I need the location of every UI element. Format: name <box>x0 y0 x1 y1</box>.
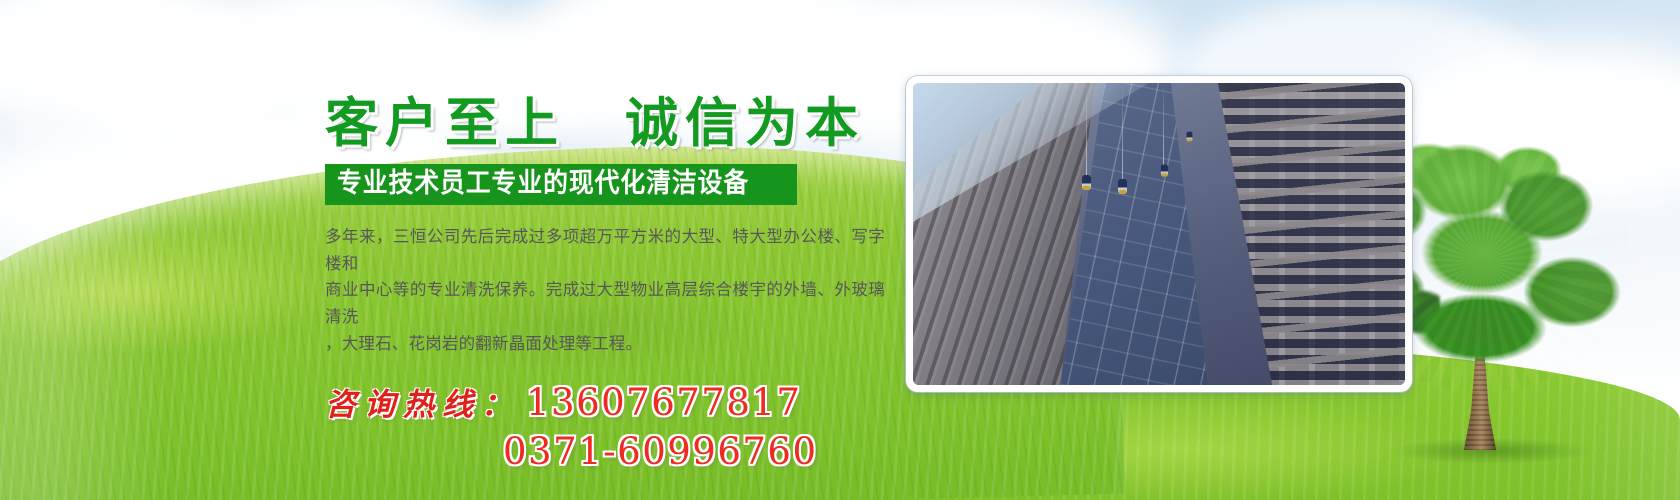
hotline-row: 咨询热线： 13607677817 <box>325 379 925 424</box>
window-cleaner-worker <box>1187 132 1193 142</box>
description-line: 多年来，三恒公司先后完成过多项超万平方米的大型、特大型办公楼、写字楼和 <box>325 224 885 277</box>
description-line: ，大理石、花岗岩的翻新晶面处理等工程。 <box>325 331 885 358</box>
promo-banner: 客户至上 诚信为本 专业技术员工专业的现代化清洁设备 多年来，三恒公司先后完成过… <box>0 0 1680 500</box>
banner-headline: 客户至上 诚信为本 <box>325 96 925 152</box>
hotline-label: 咨询热线： <box>325 379 520 424</box>
building-photo-frame <box>906 76 1412 392</box>
building-right-columns <box>1189 83 1405 385</box>
banner-description: 多年来，三恒公司先后完成过多项超万平方米的大型、特大型办公楼、写字楼和 商业中心… <box>325 224 885 358</box>
banner-subtitle-bar: 专业技术员工专业的现代化清洁设备 <box>325 164 797 205</box>
hotline-phone-secondary[interactable]: 0371-60996760 <box>503 430 925 473</box>
description-line: 商业中心等的专业清洗保养。完成过大型物业高层综合楼宇的外墙、外玻璃清洗 <box>325 277 885 330</box>
banner-copy: 客户至上 诚信为本 专业技术员工专业的现代化清洁设备 多年来，三恒公司先后完成过… <box>325 96 925 473</box>
window-cleaner-worker <box>1161 165 1168 177</box>
worker-rope <box>1163 83 1164 167</box>
window-cleaner-worker <box>1082 175 1091 190</box>
building-photo <box>913 83 1405 385</box>
worker-rope <box>1086 83 1087 179</box>
worker-rope <box>1122 83 1123 183</box>
hotline-phone-primary[interactable]: 13607677817 <box>526 381 801 424</box>
window-cleaner-worker <box>1118 179 1127 194</box>
banner-subtitle-text: 专业技术员工专业的现代化清洁设备 <box>337 169 749 199</box>
